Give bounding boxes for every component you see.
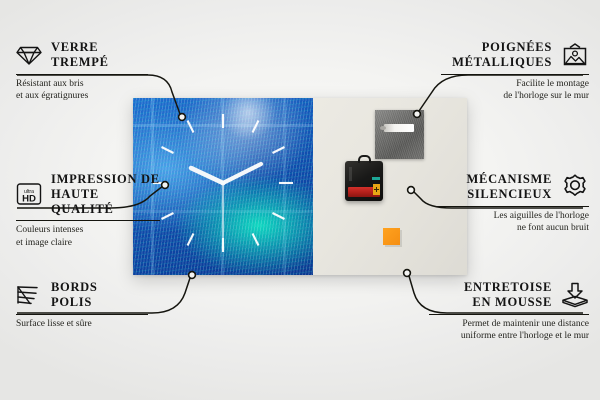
feature-subtitle: Permet de maintenir une distance uniform… [429,318,589,344]
foam-spacer [383,228,400,245]
feature-subtitle: Résistant aux bris et aux égratignures [16,78,148,104]
title-underline [16,220,160,221]
feature-title: BORDSPOLIS [51,280,98,310]
feature-poignees-metalliques: POIGNÉESMÉTALLIQUES Facilite le montage … [441,40,589,103]
feature-title: ENTRETOISEEN MOUSSE [464,280,552,310]
clock-face-front [133,98,313,275]
feature-title: POIGNÉESMÉTALLIQUES [452,40,552,70]
tick-marks [153,114,293,252]
diamond-icon [16,44,42,66]
movement-label-mark [372,177,380,180]
feature-subtitle: Surface lisse et sûre [16,318,148,331]
title-underline [429,314,589,315]
infographic-canvas: VERRETREMPÉ Résistant aux bris et aux ég… [0,0,600,400]
title-underline [16,74,148,75]
feature-subtitle: Couleurs intenses et image claire [16,224,160,250]
battery-plus-terminal [373,184,380,195]
polished-edges-icon [16,284,42,306]
ultra-hd-icon: ultra HD [16,182,42,206]
feature-verre-trempe: VERRETREMPÉ Résistant aux bris et aux ég… [16,40,148,103]
feature-subtitle: Facilite le montage de l'horloge sur le … [441,78,589,104]
metal-bracket [375,110,424,159]
gear-icon [561,173,589,200]
picture-hanger-icon [561,43,589,67]
bracket-keyhole-slot [384,124,414,132]
battery [348,187,380,197]
title-underline [441,74,589,75]
clock-dial-overlay [133,98,313,275]
ultra-hd-icon-main: HD [22,194,36,205]
title-underline [16,314,148,315]
movement-hanger-loop [358,155,371,163]
feature-title: MÉCANISMESILENCIEUX [467,172,552,202]
feature-subtitle: Les aiguilles de l'horloge ne font aucun… [437,210,589,236]
clock-hands [191,164,261,238]
feature-bords-polis: BORDSPOLIS Surface lisse et sûre [16,280,148,330]
feature-title: VERRETREMPÉ [51,40,109,70]
feature-impression-haute-qualite: ultra HD IMPRESSION DEHAUTE QUALITÉ Coul… [16,172,160,250]
feature-mecanisme-silencieux: MÉCANISMESILENCIEUX Les aiguilles de l'h… [437,172,589,235]
quartz-movement [345,161,383,201]
title-underline [437,206,589,207]
foam-spacer-icon [561,282,589,308]
feature-entretoise-en-mousse: ENTRETOISEEN MOUSSE Permet de maintenir … [429,280,589,343]
feature-title: IMPRESSION DEHAUTE QUALITÉ [51,172,160,216]
product-photo [133,98,467,275]
